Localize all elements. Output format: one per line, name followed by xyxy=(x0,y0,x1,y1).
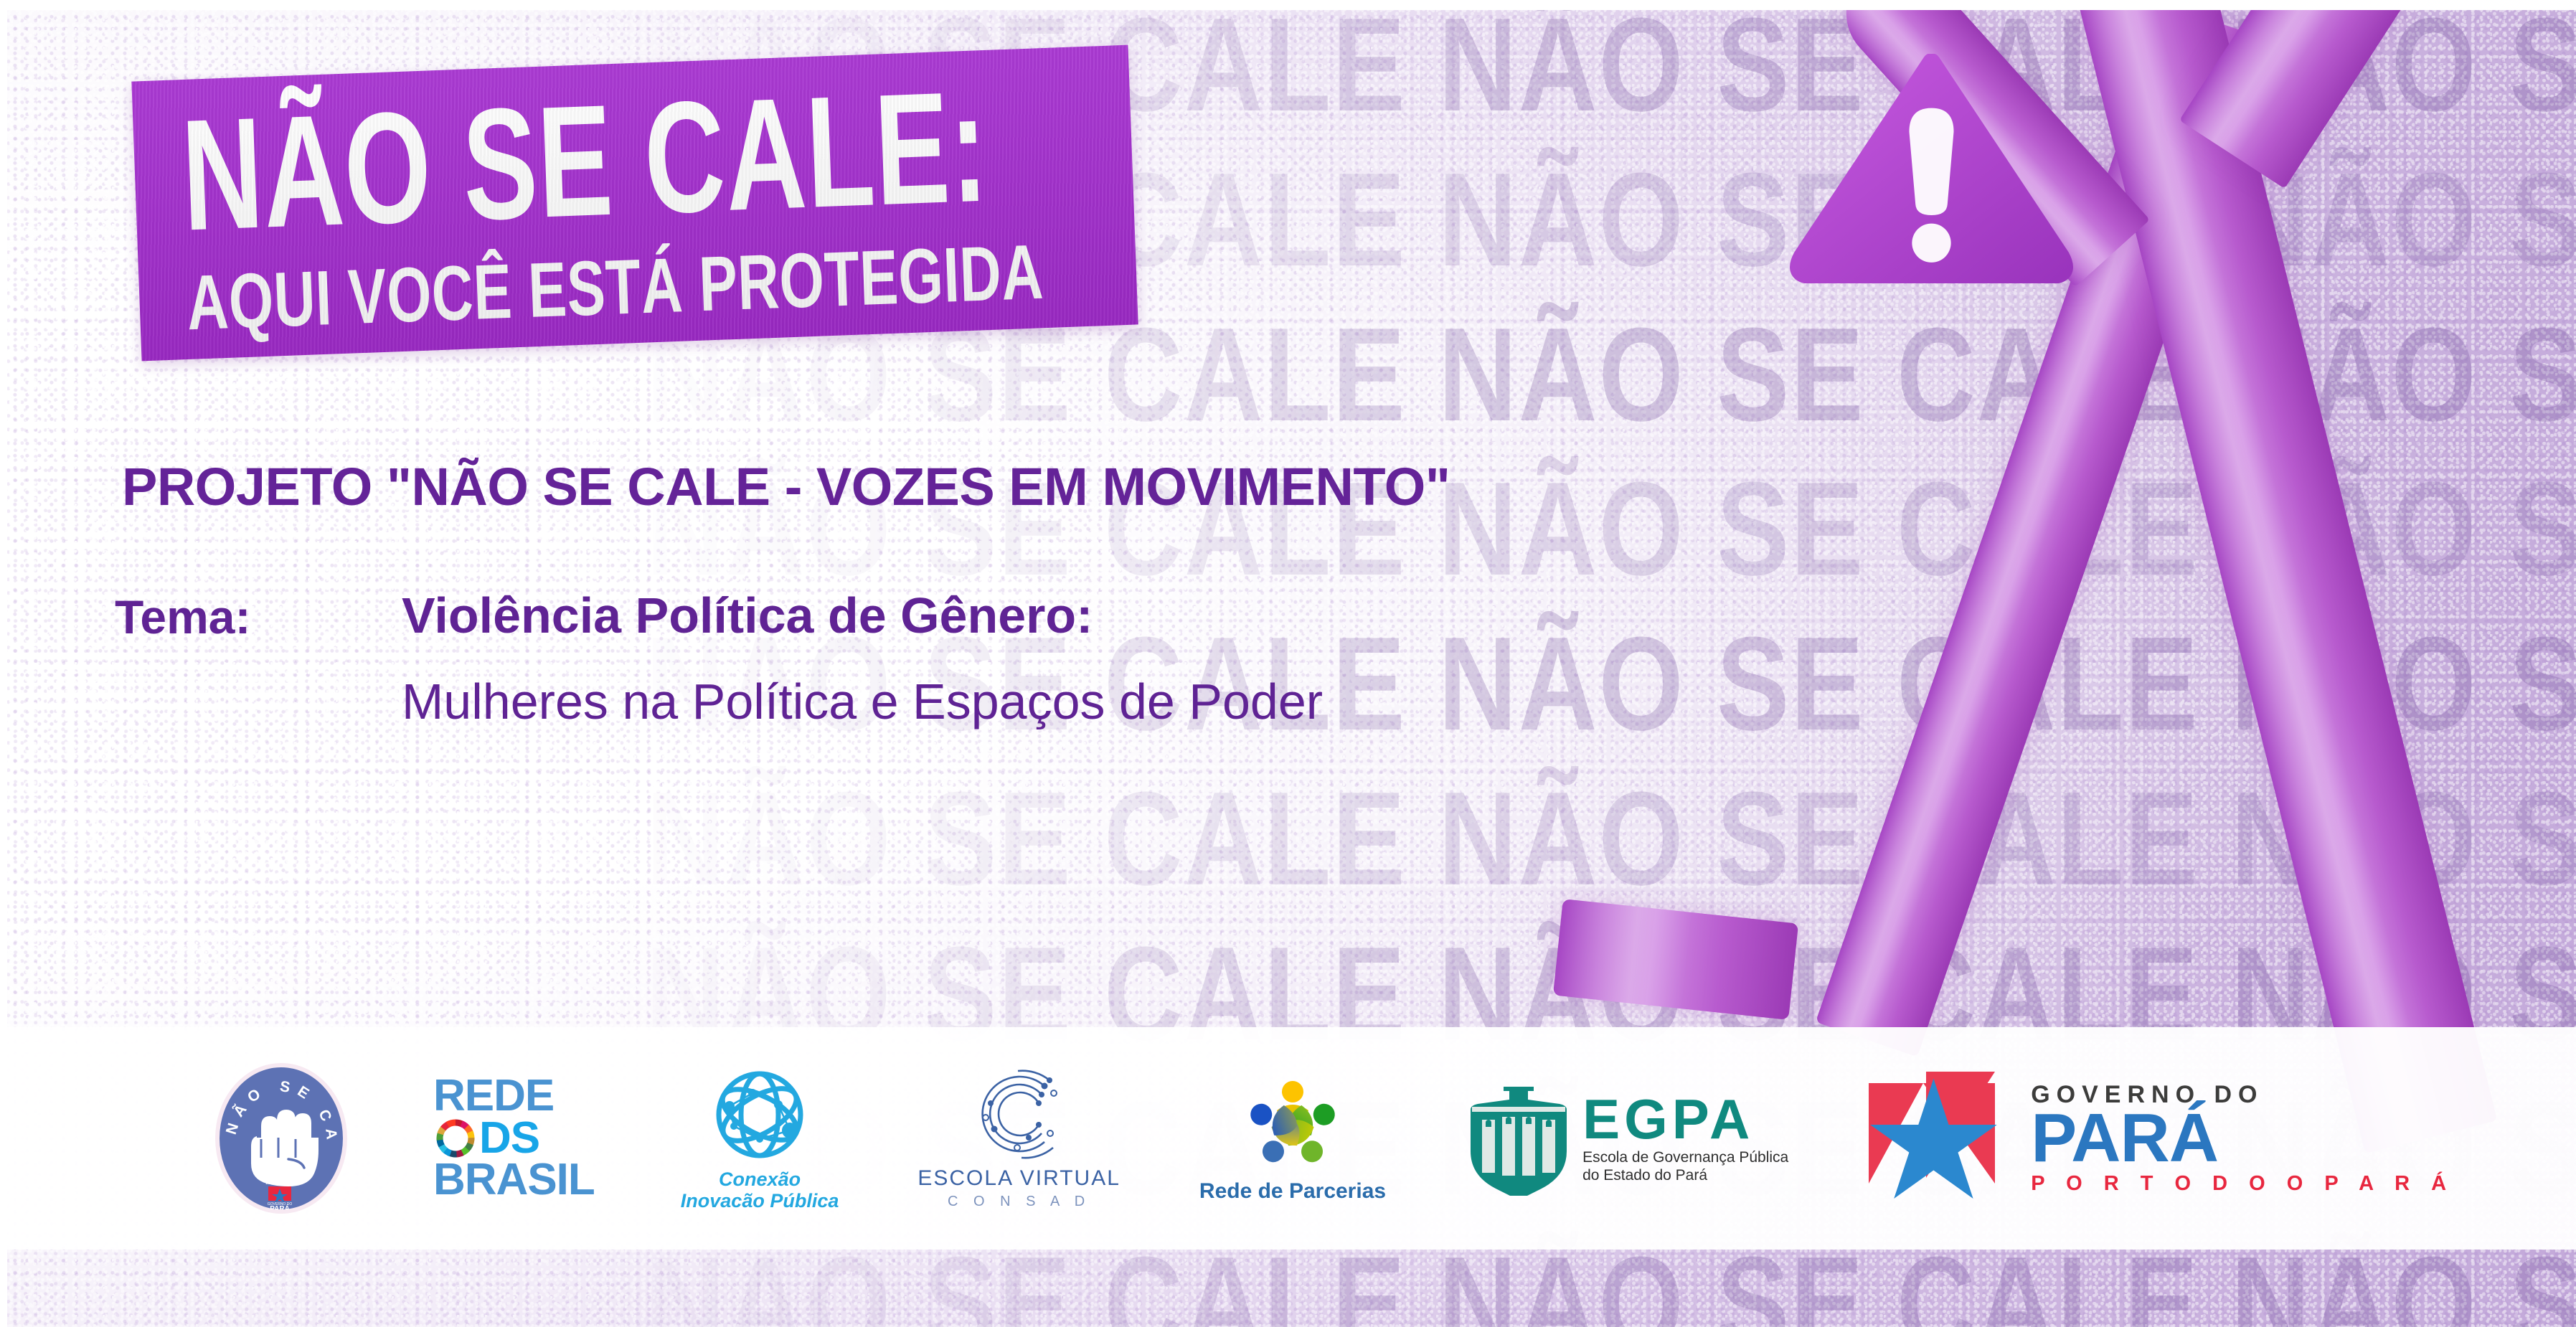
ods-ds-text: DS xyxy=(479,1119,539,1158)
logo-nao-se-cale-seal: NÃO SE CALE SECRETARIA DAS MULHERES xyxy=(215,1063,347,1214)
people-circle-icon xyxy=(1242,1073,1343,1173)
egpa-subtitle-2: do Estado do Pará xyxy=(1582,1167,1707,1184)
logo-governo-do-para: GOVERNO DO PARÁ P O R T O D O O P A R Á xyxy=(1860,1063,2454,1214)
logo-conexao-inovacao-publica: Conexão Inovacão Pública xyxy=(681,1064,839,1212)
seal-circle: NÃO SE CALE SECRETARIA DAS MULHERES xyxy=(215,1063,347,1214)
logo-rede-ods-brasil: REDE xyxy=(433,1077,595,1199)
tape-line1: NÃO SE CALE: xyxy=(179,67,991,255)
circuit-c-icon xyxy=(973,1067,1066,1161)
ods-line-rede: REDE xyxy=(433,1077,554,1116)
logo-egpa: EGPA Escola de Governança Pública do Est… xyxy=(1465,1081,1788,1196)
svg-text:MULHERES: MULHERES xyxy=(265,1181,294,1186)
svg-text:PARÁ: PARÁ xyxy=(270,1204,290,1209)
theme-label: Tema: xyxy=(115,590,251,644)
partner-logo-bar: NÃO SE CALE SECRETARIA DAS MULHERES xyxy=(0,1027,2576,1250)
top-edge-strip xyxy=(0,0,2576,10)
globe-network-icon xyxy=(709,1064,810,1165)
conexao-line2: Inovacão Pública xyxy=(681,1190,839,1212)
egpa-acronym: EGPA xyxy=(1582,1092,1788,1146)
campaign-tape-logo: NÃO SE CALE: AQUI VOCÊ ESTÁ PROTEGIDA xyxy=(131,45,1138,362)
theme-line-1: Violência Política de Gênero: xyxy=(402,587,1093,644)
sdg-wheel-icon xyxy=(433,1116,478,1161)
logo-rede-de-parcerias: Rede de Parcerias xyxy=(1199,1073,1386,1204)
para-label: PARÁ xyxy=(2031,1107,2454,1170)
ods-line-brasil: BRASIL xyxy=(433,1161,595,1200)
conexao-caption: Conexão Inovacão Pública xyxy=(681,1169,839,1212)
rede-parcerias-caption: Rede de Parcerias xyxy=(1199,1179,1386,1204)
escola-virtual-caption: ESCOLA VIRTUAL xyxy=(917,1166,1120,1191)
ods-line-ods: DS xyxy=(433,1116,539,1161)
campaign-banner: NÃO SE CALE NÃO SE CALE NÃO SE CALE NÃO … xyxy=(0,0,2576,1327)
left-edge-strip xyxy=(0,0,7,1327)
theme-line-2: Mulheres na Política e Espaços de Poder xyxy=(402,673,1323,730)
project-title: PROJETO "NÃO SE CALE - VOZES EM MOVIMENT… xyxy=(122,456,1450,517)
conexao-line1: Conexão xyxy=(719,1168,801,1190)
logo-escola-virtual-consad: ESCOLA VIRTUAL C O N S A D xyxy=(917,1067,1120,1210)
consad-caption: C O N S A D xyxy=(948,1194,1090,1210)
por-todo-o-para-tagline: P O R T O D O O P A R Á xyxy=(2031,1173,2454,1194)
para-flag-star-icon xyxy=(1860,1063,2018,1214)
egpa-subtitle-1: Escola de Governança Pública xyxy=(1582,1149,1788,1166)
warning-triangle-icon xyxy=(1790,54,2073,283)
fist-icon: NÃO SE CALE SECRETARIA DAS MULHERES xyxy=(220,1067,343,1209)
egpa-building-icon xyxy=(1465,1081,1572,1196)
